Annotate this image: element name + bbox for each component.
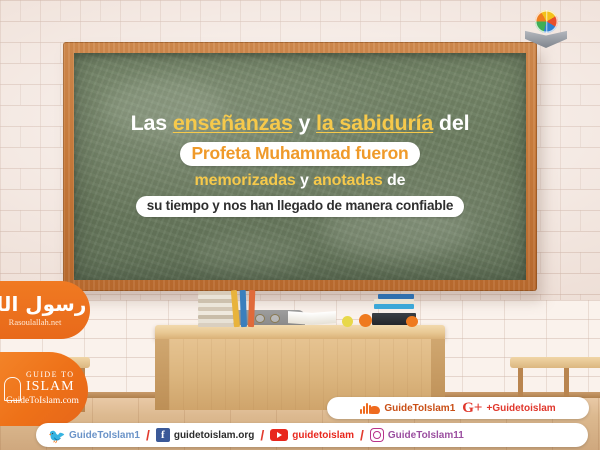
message-line-2-wrap: Profeta Muhammad fueron <box>74 142 526 167</box>
globe-shape <box>535 10 558 33</box>
guide-to-islam-text: GUIDE TO ISLAM GuideToIslam.com <box>26 371 79 407</box>
chalkboard-surface: Las enseñanzas y la sabiduría del Profet… <box>74 53 526 280</box>
blue-book <box>374 304 414 309</box>
separator-2: / <box>260 427 264 443</box>
poster-scene: Las enseñanzas y la sabiduría del Profet… <box>0 0 600 450</box>
social-bar-top: GuideToIslam1 G+ +Guidetoislam <box>327 397 589 419</box>
gti-line1: GUIDE TO <box>26 371 79 379</box>
line3-seg-3: de <box>383 172 406 189</box>
message-line-3: memorizadas y anotadas de <box>74 173 526 189</box>
open-book <box>288 312 336 325</box>
book-stack <box>198 289 234 327</box>
youtube-handle: guidetoislam <box>292 430 354 441</box>
globe-book-logo-icon <box>525 8 567 48</box>
line1-seg-4: del <box>433 111 469 135</box>
cream-book <box>374 299 414 304</box>
social-bar-bottom: 🐦 GuideToIslam1 / f guidetoislam.org / g… <box>36 423 588 447</box>
social-link-googleplus[interactable]: G+ +Guidetoislam <box>462 401 555 416</box>
line1-seg-0: Las <box>131 111 173 135</box>
googleplus-handle: +Guidetoislam <box>486 403 555 414</box>
orange-fruit <box>359 314 372 327</box>
arabic-calligraphy: رسول الله <box>0 294 86 314</box>
message-line-4: su tiempo y nos han llegado de manera co… <box>136 196 464 217</box>
desk-top-surface <box>155 325 445 339</box>
twitter-icon: 🐦 <box>48 429 65 442</box>
facebook-icon: f <box>156 428 170 442</box>
social-link-twitter[interactable]: 🐦 GuideToIslam1 <box>48 429 140 442</box>
line1-seg-1: enseñanzas <box>173 111 293 135</box>
gti-line2: ISLAM <box>26 380 79 394</box>
facebook-handle: guidetoislam.org <box>174 430 255 441</box>
social-link-soundcloud[interactable]: GuideToIslam1 <box>360 402 455 414</box>
instagram-icon <box>370 428 384 442</box>
chalkboard-message: Las enseñanzas y la sabiduría del Profet… <box>74 113 526 224</box>
soundcloud-icon <box>360 402 380 414</box>
guide-to-islam-brand-badge[interactable]: GUIDE TO ISLAM GuideToIslam.com <box>0 352 88 426</box>
desk-side-left <box>155 339 169 410</box>
line3-seg-1: y <box>296 172 314 189</box>
line3-seg-0: memorizadas <box>195 172 296 189</box>
chalkboard: Las enseñanzas y la sabiduría del Profet… <box>63 42 537 291</box>
youtube-icon <box>270 429 288 441</box>
message-line-1: Las enseñanzas y la sabiduría del <box>74 113 526 135</box>
soundcloud-handle: GuideToIslam1 <box>384 403 455 414</box>
social-link-facebook[interactable]: f guidetoislam.org <box>156 428 255 442</box>
social-link-instagram[interactable]: GuideToIslam11 <box>370 428 464 442</box>
twitter-handle: GuideToIslam1 <box>69 430 140 441</box>
apple <box>342 316 353 327</box>
social-link-youtube[interactable]: guidetoislam <box>270 429 354 441</box>
instagram-handle: GuideToIslam11 <box>388 430 464 441</box>
mosque-arch-icon <box>4 377 21 401</box>
rasoulallah-site-label: Rasoulallah.net <box>9 317 62 327</box>
message-line-4-wrap: su tiempo y nos han llegado de manera co… <box>74 196 526 217</box>
separator-1: / <box>146 427 150 443</box>
orange-fruit-2 <box>406 316 418 327</box>
google-plus-icon: G+ <box>462 401 482 416</box>
navy-book <box>378 294 414 299</box>
line3-seg-2: anotadas <box>313 172 382 189</box>
line1-seg-3: la sabiduría <box>316 111 433 135</box>
message-line-2: Profeta Muhammad fueron <box>180 142 419 167</box>
separator-3: / <box>360 427 364 443</box>
rasoulallah-brand-badge[interactable]: رسول الله Rasoulallah.net <box>0 281 90 339</box>
line1-seg-2: y <box>293 111 316 135</box>
eyeglasses <box>255 314 281 324</box>
